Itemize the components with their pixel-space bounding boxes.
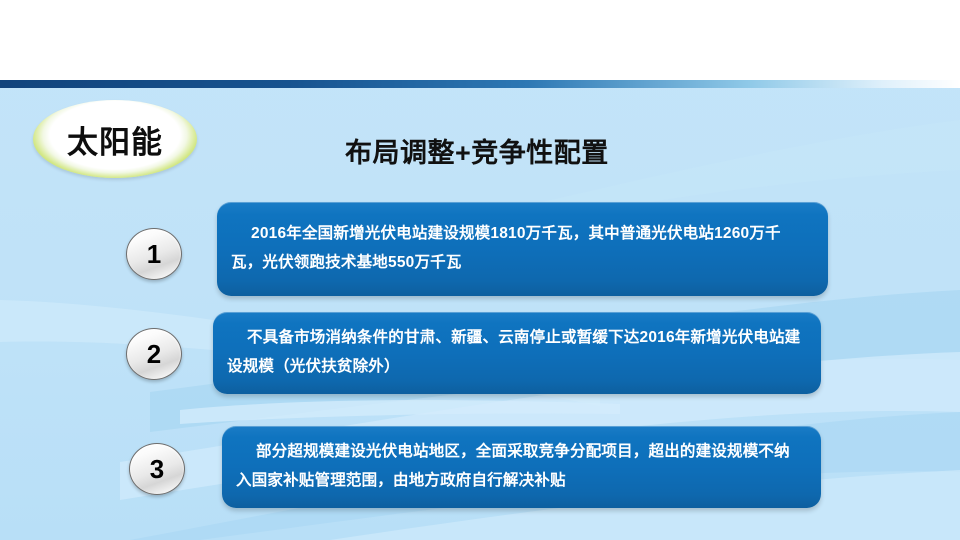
row-number-badge: 1: [126, 228, 182, 280]
row-content-text: 不具备市场消纳条件的甘肃、新疆、云南停止或暂缓下达2016年新增光伏电站建设规模…: [213, 324, 821, 381]
row-content-box: 2016年全国新增光伏电站建设规模1810万千瓦，其中普通光伏电站1260万千瓦…: [217, 202, 828, 296]
row-number-badge: 3: [129, 443, 185, 495]
row-content-box: 不具备市场消纳条件的甘肃、新疆、云南停止或暂缓下达2016年新增光伏电站建设规模…: [213, 312, 821, 394]
badge-label: 太阳能: [33, 100, 197, 178]
row-number-badge: 2: [126, 328, 182, 380]
section-subtitle: 布局调整+竞争性配置: [345, 131, 609, 170]
solar-category-badge: 太阳能: [33, 100, 197, 178]
row-content-text: 部分超规模建设光伏电站地区，全面采取竞争分配项目，超出的建设规模不纳入国家补贴管…: [222, 438, 821, 495]
row-content-text: 2016年全国新增光伏电站建设规模1810万千瓦，其中普通光伏电站1260万千瓦…: [217, 220, 828, 277]
row-content-box: 部分超规模建设光伏电站地区，全面采取竞争分配项目，超出的建设规模不纳入国家补贴管…: [222, 426, 821, 508]
header-divider-rule: [0, 80, 960, 88]
slide-canvas: CREEI 水电总院 行业发展特点 太阳能 布局调整+竞争性配置 1 2016年…: [0, 0, 960, 540]
header-bar: [0, 0, 960, 80]
